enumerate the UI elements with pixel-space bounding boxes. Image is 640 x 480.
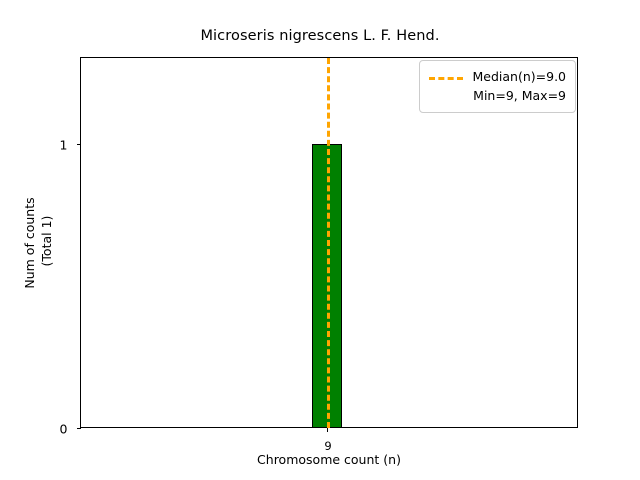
y-tick-label-1: 1 [60, 137, 68, 152]
dashed-line-icon [429, 71, 463, 83]
plot-area: 0 1 9 Median(n)=9.0 Min=9, Max=9 [80, 57, 578, 428]
x-tick-label-9: 9 [324, 439, 331, 453]
y-axis-label: Num of counts (Total 1) [22, 197, 56, 288]
y-tick-label-0: 0 [60, 421, 68, 436]
y-tick-mark-1: 1 [77, 144, 82, 145]
chart-title: Microseris nigrescens L. F. Hend. [0, 28, 640, 44]
legend-entry-minmax: Min=9, Max=9 [429, 86, 567, 105]
y-axis-label-container: Num of counts (Total 1) [24, 57, 54, 428]
legend-label-minmax: Min=9, Max=9 [473, 88, 566, 103]
median-vline [327, 58, 330, 428]
legend: Median(n)=9.0 Min=9, Max=9 [419, 60, 577, 113]
y-tick-mark-0: 0 [77, 428, 82, 429]
x-axis-label: Chromosome count (n) [80, 452, 578, 467]
chart-figure: Microseris nigrescens L. F. Hend. Num of… [0, 0, 640, 480]
legend-label-median: Median(n)=9.0 [473, 69, 567, 84]
legend-entry-median: Median(n)=9.0 [429, 67, 567, 86]
